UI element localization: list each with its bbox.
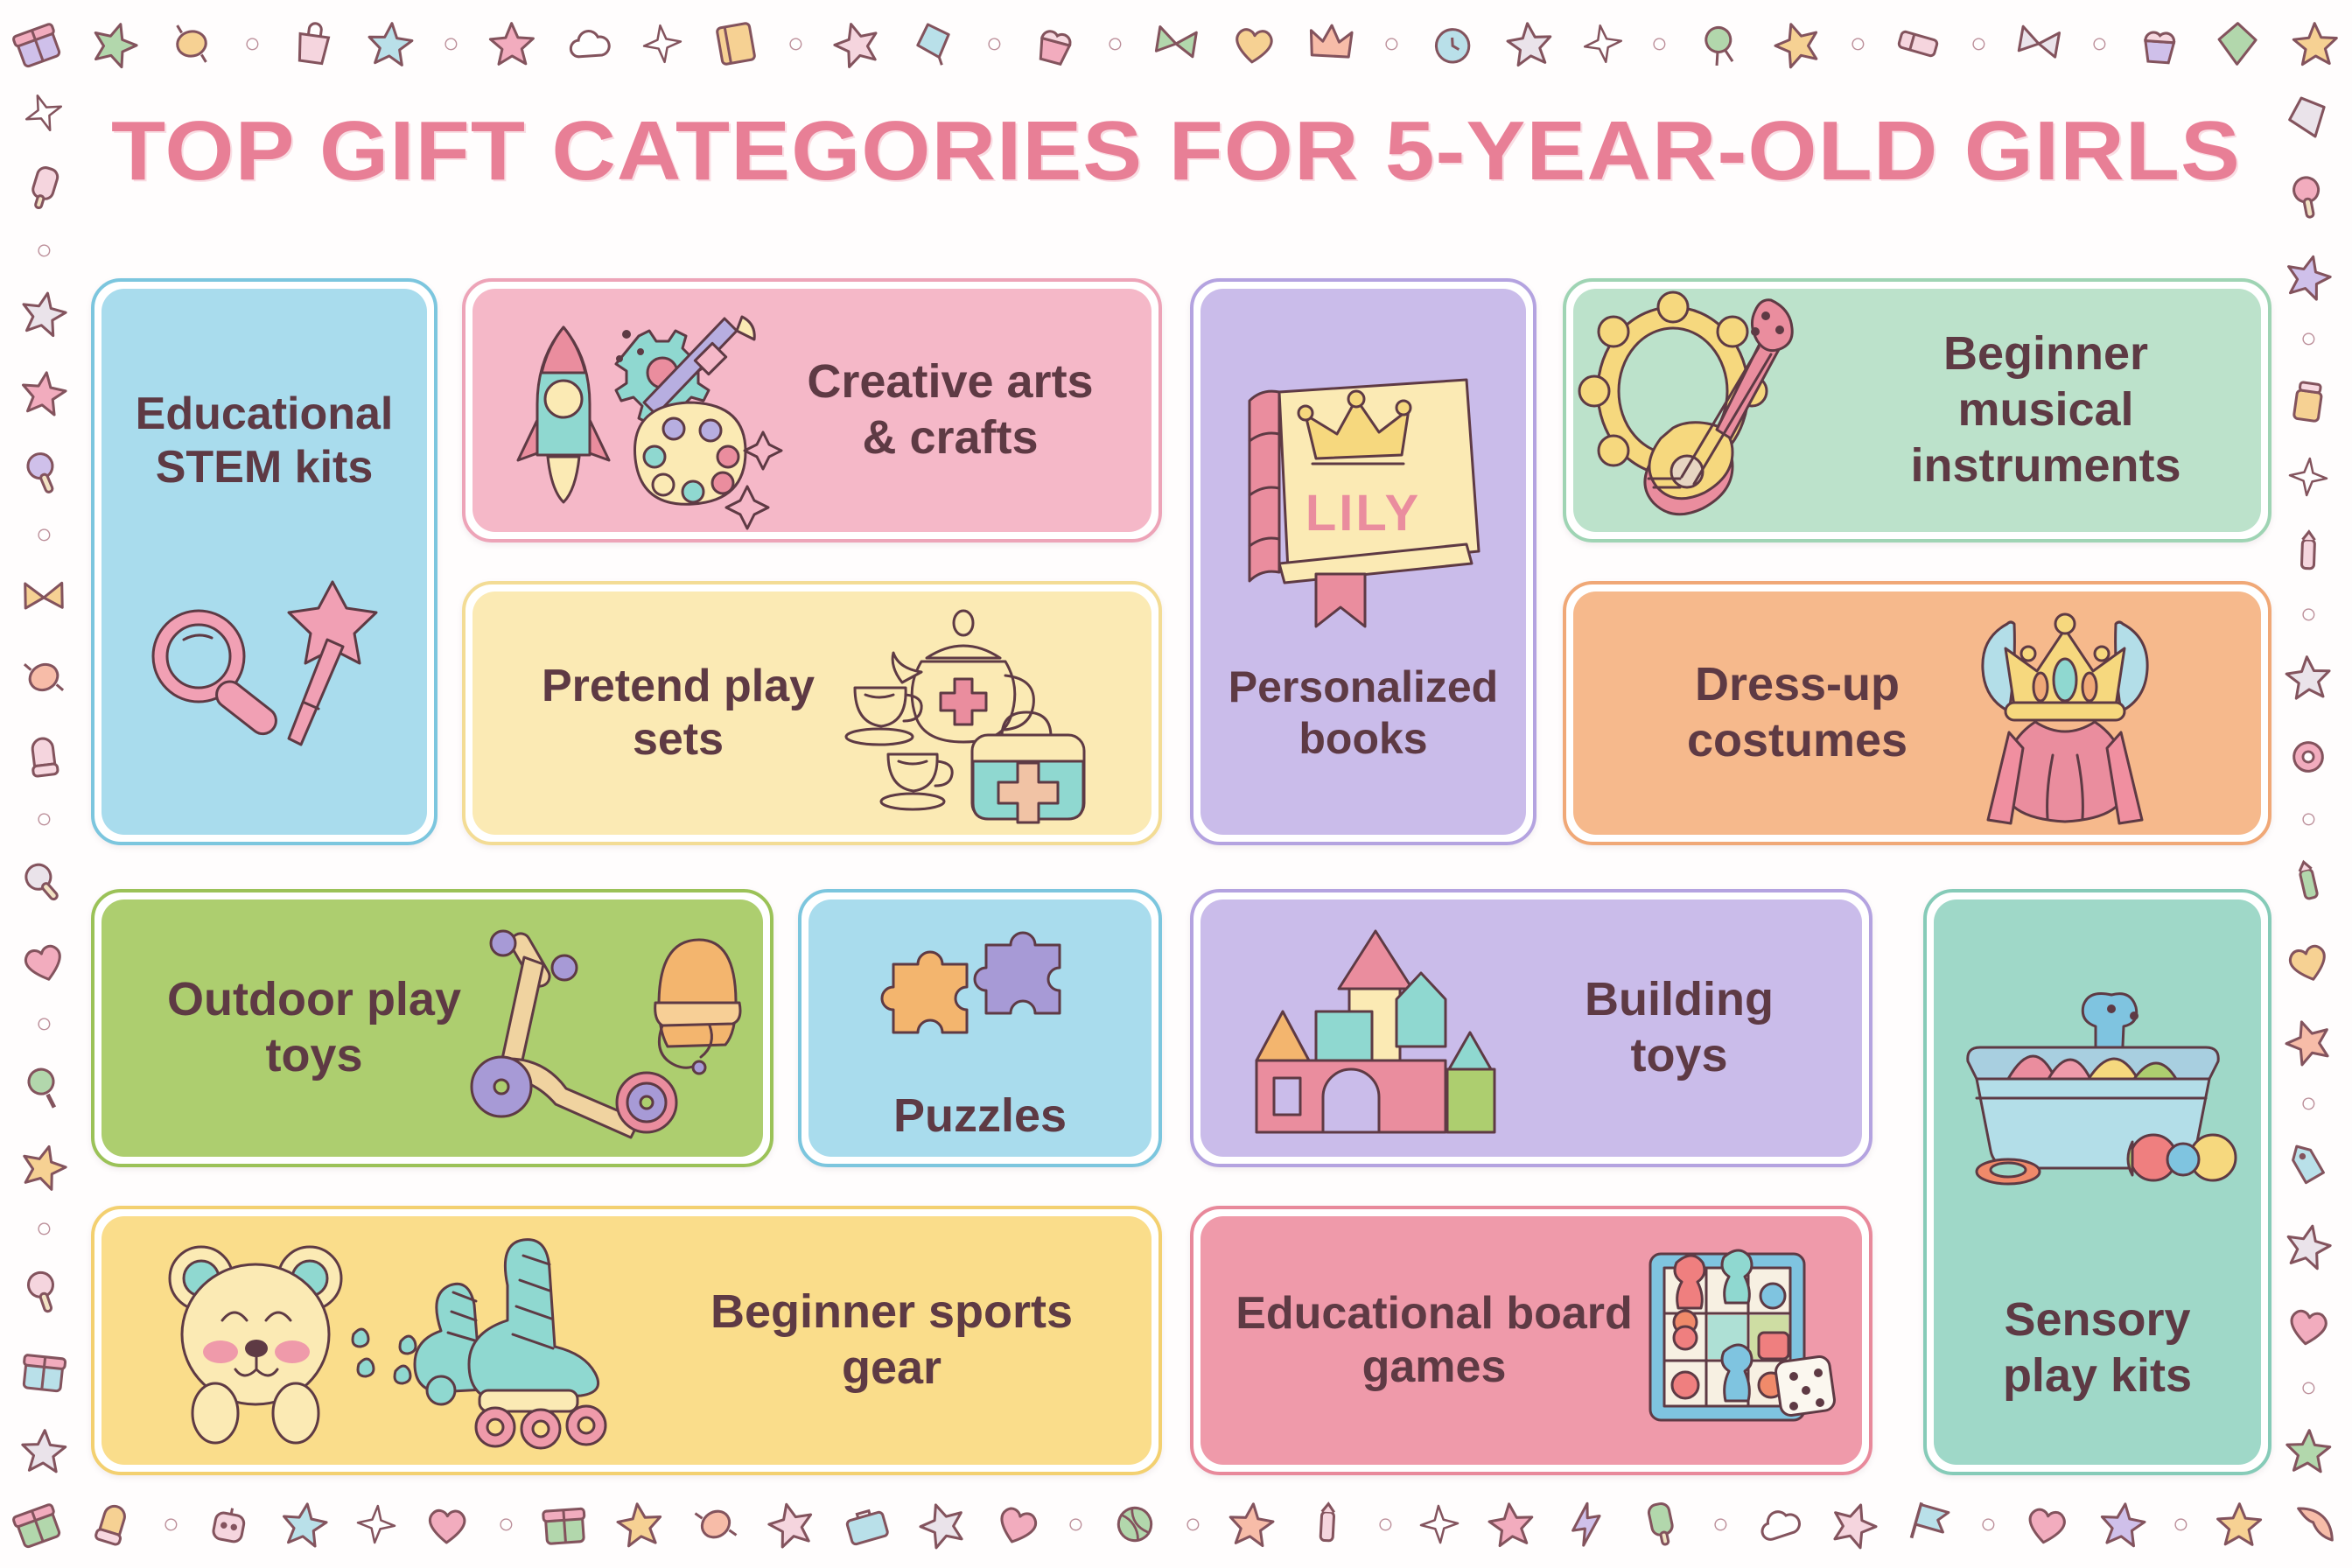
star-icon [15, 284, 73, 342]
dot-icon [1378, 1517, 1393, 1532]
arts-crafts-art [513, 301, 784, 520]
star-icon [16, 365, 71, 420]
infographic-poster: TOP GIFT CATEGORIES FOR 5-YEAR-OLD GIRLS… [0, 0, 2352, 1568]
mitten-icon [81, 1494, 143, 1555]
candy-icon [687, 1496, 744, 1553]
storybook-icon: LILY [1249, 380, 1479, 626]
heart-icon [422, 1499, 472, 1550]
candy-icon [17, 651, 70, 703]
sparkle-icon [1418, 1503, 1460, 1545]
star-icon [1484, 1497, 1538, 1551]
heart-icon [2280, 1298, 2336, 1354]
card-outdoor-play-toys[interactable]: Outdoor play toys [91, 889, 773, 1167]
clock-icon [1426, 18, 1478, 70]
paint-palette-icon [635, 402, 746, 504]
border-right [2264, 84, 2352, 1484]
card-educational-stem-kits[interactable]: Educational STEM kits [91, 278, 437, 845]
ribbon-icon [1148, 16, 1204, 72]
jar-icon [2280, 374, 2335, 429]
helmet-icon [655, 940, 740, 1074]
puzzle-piece-icon [882, 933, 1060, 1032]
outdoor-art [466, 919, 738, 1137]
tag-icon [2278, 1137, 2339, 1197]
card-creative-arts-crafts[interactable]: Creative arts & crafts [462, 278, 1162, 542]
star-icon [18, 1424, 70, 1476]
heart-icon [2278, 931, 2338, 991]
boomerang-icon [2290, 1499, 2341, 1550]
teacup-icon [846, 688, 921, 745]
gift-icon [538, 1498, 591, 1550]
dot-icon [2299, 811, 2316, 828]
dot-icon [1970, 35, 1987, 52]
teddy-bear-icon [170, 1247, 341, 1443]
gift-box-icon [5, 1493, 68, 1556]
star-icon [2279, 1217, 2337, 1275]
star-wand-icon [289, 582, 376, 745]
bow-icon [19, 572, 69, 622]
pennant-icon [1900, 1494, 1960, 1554]
card-label-line2: sets [633, 714, 724, 765]
card-beginner-sports-gear[interactable]: Beginner sports gear [91, 1206, 1162, 1475]
crayon-icon [1301, 1499, 1353, 1550]
dressup-art [1934, 599, 2196, 827]
tiara-crown-icon [2005, 614, 2124, 720]
dot-icon [1067, 1515, 1086, 1534]
card-label-line2: & crafts [862, 411, 1038, 464]
personalized-book-art: LILY [1232, 366, 1494, 619]
diamond-icon [2213, 19, 2263, 69]
book-name-text: LILY [1305, 485, 1421, 542]
card-beginner-musical-instruments[interactable]: Beginner musical instruments [1563, 278, 2271, 542]
card-label-line1: Educational board [1235, 1288, 1633, 1339]
sparkle-icon [1580, 21, 1627, 67]
rocket-icon [518, 327, 609, 502]
card-label-line1: Personalized [1228, 662, 1498, 711]
dot-icon [34, 1015, 52, 1033]
rattle-icon [17, 446, 71, 500]
dot-icon [2299, 331, 2317, 348]
dot-icon [2299, 1095, 2317, 1113]
dot-icon [244, 35, 262, 52]
roller-skates-icon [415, 1240, 605, 1448]
card-label-line2: costumes [1687, 714, 1907, 766]
dot-icon [444, 36, 458, 51]
card-label-line2: books [1298, 714, 1427, 763]
star-icon [277, 1496, 332, 1551]
card-label-line2: games [1362, 1341, 1507, 1392]
card-sensory-play-kits[interactable]: Sensory play kits [1923, 889, 2271, 1475]
card-label-line1: Beginner sports [710, 1285, 1073, 1338]
dot-icon [2173, 1516, 2189, 1532]
dot-icon [35, 241, 52, 259]
dot-icon [35, 811, 52, 828]
card-label-line2: instruments [1910, 439, 2180, 492]
robot-icon [200, 1495, 258, 1553]
card-label-line1: Pretend play [542, 661, 815, 711]
gift-icon [17, 1344, 71, 1398]
board-games-art [1640, 1240, 1841, 1441]
cloud-icon [563, 17, 615, 70]
dot-icon [35, 1220, 52, 1237]
card-label-line2: toys [265, 1029, 362, 1081]
crayon-icon [2283, 527, 2334, 577]
dot-icon [162, 1515, 179, 1533]
card-label-line2: STEM kits [156, 442, 374, 493]
heart-icon [2019, 1496, 2075, 1553]
puzzle-art [879, 927, 1081, 1059]
dot-icon [36, 528, 51, 542]
sports-gear-art [159, 1231, 702, 1450]
sensory-art [1957, 986, 2237, 1187]
star-icon [2278, 247, 2338, 306]
dot-icon [2091, 36, 2108, 52]
heart-icon [1227, 17, 1281, 71]
block-castle-icon [1256, 931, 1494, 1132]
card-label-line1: Dress-up [1695, 658, 1900, 710]
dot-icon [787, 35, 805, 52]
cotton-candy-icon [1748, 1494, 1810, 1556]
sparkle-icon [640, 21, 684, 66]
dot-icon [1650, 35, 1668, 52]
candy-icon [162, 14, 221, 73]
dot-icon [1107, 35, 1124, 52]
pompom-icon [1690, 14, 1750, 74]
brush-icon [2278, 852, 2337, 911]
card-puzzles[interactable]: Puzzles [798, 889, 1162, 1167]
bolt-icon [1558, 1496, 1614, 1552]
eraser-icon [1887, 13, 1948, 73]
crown-icon [1305, 18, 1357, 70]
star-icon [2283, 1424, 2334, 1476]
dot-icon [985, 34, 1004, 52]
star-icon [612, 1497, 667, 1551]
sparkle-icon [354, 1502, 398, 1546]
stem-art [133, 573, 395, 766]
gear-icon [2281, 730, 2335, 784]
card-label-line1: Educational [136, 388, 394, 439]
card-pretend-play-sets[interactable]: Pretend play sets [462, 581, 1162, 845]
princess-dress-icon [1988, 722, 2142, 823]
star-icon [364, 17, 417, 71]
dot-icon [498, 1516, 513, 1531]
card-dress-up-costumes[interactable]: Dress-up costumes [1563, 581, 2271, 845]
scooter-icon [472, 930, 676, 1137]
building-blocks-art [1225, 919, 1514, 1137]
magnifying-glass-icon [153, 611, 281, 739]
star-icon [486, 19, 536, 69]
card-label-line1: Outdoor play [167, 973, 461, 1025]
star-icon [2282, 651, 2334, 703]
star-icon [2290, 18, 2341, 69]
magnifier-icon [13, 1056, 75, 1118]
gift-box-icon [5, 12, 68, 75]
dot-icon [2300, 607, 2315, 622]
star-icon [1767, 13, 1829, 75]
instruments-art [1577, 297, 1839, 524]
cupcake-icon [2134, 17, 2187, 70]
rattle-icon [16, 1263, 72, 1319]
star-icon [826, 13, 886, 73]
dice-icon [1774, 1355, 1836, 1417]
popsicle-icon [1633, 1495, 1690, 1553]
heart-icon [13, 931, 73, 991]
star-icon [14, 1137, 74, 1197]
rattle-icon [14, 852, 73, 911]
star-icon [2215, 1500, 2264, 1550]
card-label-line1: Creative arts [807, 355, 1093, 408]
dot-icon [1185, 1515, 1201, 1532]
card-building-toys[interactable]: Building toys [1190, 889, 1872, 1167]
star-icon [911, 1493, 973, 1555]
dot-icon [1711, 1515, 1730, 1534]
border-top [0, 0, 2352, 87]
dot-icon [1384, 37, 1399, 52]
card-educational-board-games[interactable]: Educational board games [1190, 1206, 1872, 1475]
dot-icon [2300, 1380, 2316, 1396]
teacup-icon [881, 754, 952, 809]
card-label-line1: Puzzles [893, 1089, 1067, 1142]
pretend-play-art [823, 604, 1112, 822]
kite-icon [903, 12, 965, 74]
book-icon [707, 16, 764, 73]
cupcake-icon [1025, 14, 1085, 74]
card-label-line2: play kits [2003, 1349, 2192, 1402]
sparkle-drops-icon [353, 1329, 416, 1383]
star-icon [761, 1494, 820, 1553]
heart-icon [987, 1494, 1049, 1556]
star-icon [2095, 1497, 2149, 1551]
gift-bag-icon [285, 16, 340, 71]
card-personalized-books[interactable]: LILY Personalized books [1190, 278, 1536, 845]
star-icon [1502, 17, 1557, 71]
lunchbox-icon [836, 1494, 897, 1554]
star-icon [84, 13, 145, 74]
card-label-line2: gear [842, 1341, 941, 1394]
dot-icon [1848, 34, 1866, 52]
card-label-line1: Beginner musical [1943, 327, 2148, 436]
dot-icon [1979, 1515, 1997, 1533]
border-left [0, 84, 87, 1484]
star-icon [1823, 1493, 1886, 1555]
mitten-icon [17, 730, 71, 784]
card-label-line1: Sensory [2004, 1293, 2190, 1346]
category-grid: Educational STEM kits [91, 278, 2271, 1475]
border-bottom [0, 1480, 2352, 1568]
page-title: TOP GIFT CATEGORIES FOR 5-YEAR-OLD GIRLS [0, 103, 2352, 199]
teapot-icon [892, 611, 1033, 742]
star-icon [2277, 1010, 2339, 1072]
star-icon [1224, 1497, 1278, 1551]
ball-icon [1105, 1495, 1163, 1553]
sparkle-icon [2286, 455, 2330, 499]
bow-icon [2011, 16, 2068, 73]
card-label-line1: Building toys [1585, 973, 1774, 1081]
